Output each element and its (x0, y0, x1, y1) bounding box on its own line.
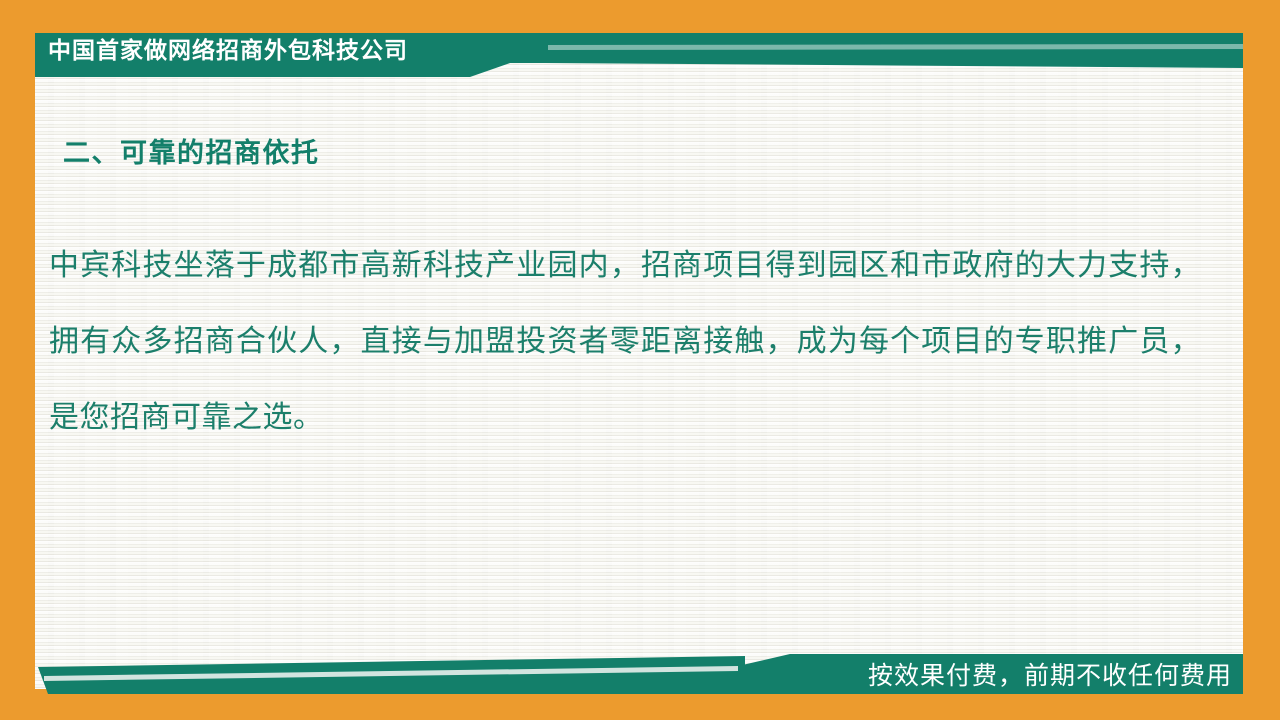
footer-tagline: 按效果付费，前期不收任何费用 (868, 656, 1232, 692)
header-title: 中国首家做网络招商外包科技公司 (48, 36, 408, 64)
footer-bottom-border (0, 696, 1280, 720)
body-paragraph: 中宾科技坐落于成都市高新科技产业园内，招商项目得到园区和市政府的大力支持，拥有众… (49, 228, 1201, 456)
section-heading: 二、可靠的招商依托 (63, 131, 320, 170)
slide-content: 二、可靠的招商依托 中宾科技坐落于成都市高新科技产业园内，招商项目得到园区和市政… (35, 100, 1243, 630)
slide-canvas: 中国首家做网络招商外包科技公司 二、可靠的招商依托 中宾科技坐落于成都市高新科技… (0, 0, 1280, 720)
